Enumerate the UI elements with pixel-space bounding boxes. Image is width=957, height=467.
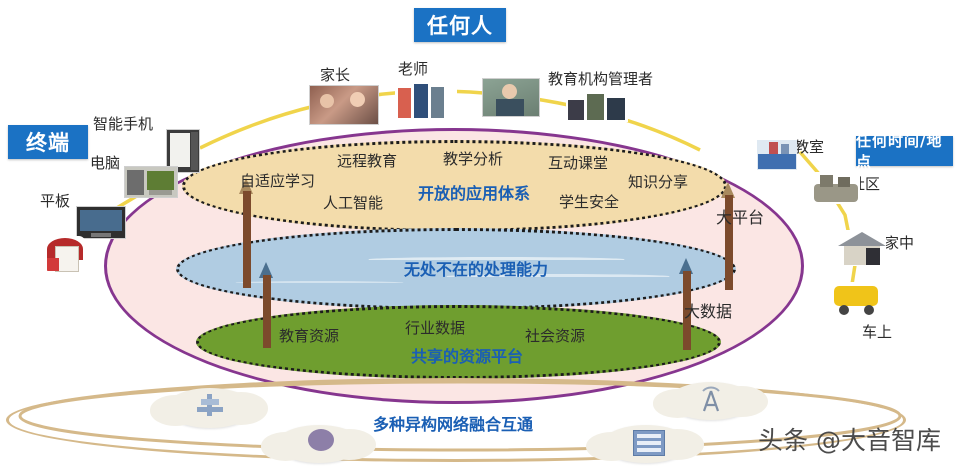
server-glyph-icon — [308, 429, 334, 451]
device-icon — [45, 236, 85, 272]
antenna-glyph-icon — [696, 385, 726, 415]
terminal-label-computer: 电脑 — [90, 152, 120, 173]
place-label-vehicle: 车上 — [862, 321, 892, 342]
app-item-student-safety: 学生安全 — [559, 191, 619, 212]
place-label-home: 家中 — [884, 232, 914, 253]
diagram-canvas: 任何人 终端 任何时间/地点 智能手机 电脑 平板 家长 老师 教 — [0, 0, 957, 467]
tag-anytime[interactable]: 任何时间/地点 — [856, 136, 953, 166]
app-item-knowledge-sharing: 知识分享 — [628, 171, 688, 192]
app-item-adaptive-learning: 自适应学习 — [240, 170, 315, 191]
vehicle-icon — [826, 282, 886, 316]
arrow-platform-left — [239, 178, 253, 288]
app-item-teaching-analysis: 教学分析 — [443, 148, 503, 169]
resource-item-industry-data: 行业数据 — [405, 317, 465, 338]
parents-photo — [309, 85, 379, 125]
terminal-label-smartphone: 智能手机 — [93, 113, 153, 134]
app-item-artificial-intelligence: 人工智能 — [323, 192, 383, 213]
resource-item-education: 教育资源 — [279, 325, 339, 346]
people-label-teachers: 老师 — [398, 58, 428, 79]
people-label-administrators: 教育机构管理者 — [548, 68, 653, 89]
student-photo — [482, 78, 540, 117]
tag-anyone[interactable]: 任何人 — [414, 8, 506, 42]
network-title: 多种异构网络融合互通 — [373, 411, 533, 435]
classroom-icon — [757, 140, 797, 170]
resource-item-social: 社会资源 — [525, 325, 585, 346]
datacenter-glyph-icon — [633, 430, 665, 456]
app-item-distance-education: 远程教育 — [337, 150, 397, 171]
teachers-photo — [395, 78, 457, 120]
people-label-parents: 家长 — [320, 64, 350, 85]
arrow-label-bigdata: 大数据 — [684, 298, 732, 322]
administrators-photo — [566, 88, 628, 122]
desktop-computer-icon — [124, 166, 178, 198]
home-icon — [838, 230, 886, 266]
layer-title-processing: 无处不在的处理能力 — [404, 256, 548, 280]
community-icon — [812, 172, 860, 204]
arrow-label-platform: 大平台 — [716, 204, 764, 228]
arrow-data-left — [259, 262, 273, 348]
place-label-classroom: 教室 — [794, 136, 824, 157]
satellite-glyph-icon — [197, 394, 223, 418]
arrow-platform-right — [721, 182, 735, 290]
layer-title-resource: 共享的资源平台 — [411, 343, 523, 367]
app-item-interactive-classroom: 互动课堂 — [548, 152, 608, 173]
tag-terminal[interactable]: 终端 — [8, 125, 88, 159]
terminal-label-tablet: 平板 — [40, 190, 70, 211]
tablet-icon — [76, 206, 126, 239]
watermark: 头条 @大音智库 — [758, 421, 941, 457]
layer-title-application: 开放的应用体系 — [418, 180, 530, 204]
